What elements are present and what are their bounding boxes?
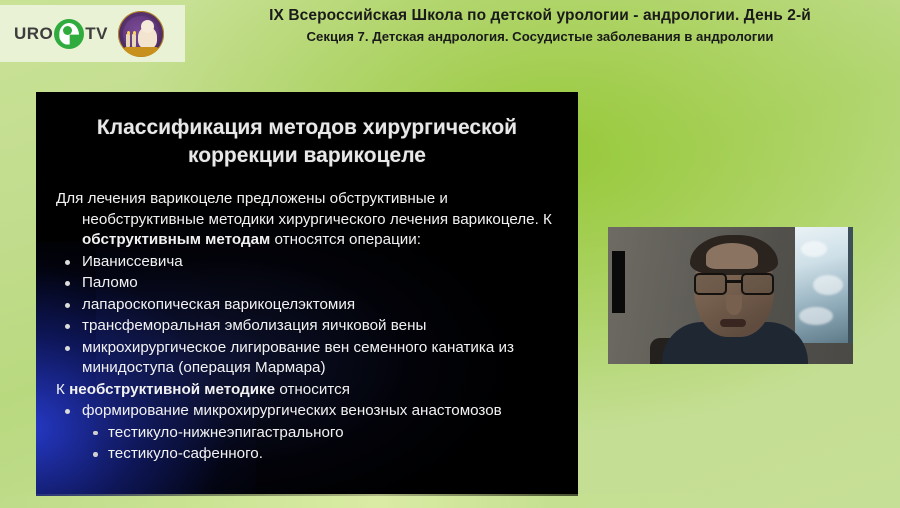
nonobstructive-methods-list: формирование микрохирургических венозных… [56, 401, 560, 422]
logo-panel: URO TV [0, 5, 185, 62]
slide-panel: Классификация методов хирургической корр… [36, 92, 578, 496]
presenter-webcam-tile[interactable] [608, 227, 853, 364]
uro-tv-logo-text-right: TV [85, 24, 108, 44]
slide-intro-bold: обструктивным методам [82, 231, 270, 248]
nonobstructive-heading-bold: необструктивной методике [69, 381, 275, 398]
slide-intro-part2: относятся операции: [270, 231, 421, 248]
list-item: Иваниссевича [56, 252, 560, 273]
header-titles: IX Всероссийская Школа по детской уролог… [190, 6, 890, 45]
header-banner: URO TV IX Всероссийская Школа [0, 0, 900, 92]
presentation-screen: URO TV IX Всероссийская Школа [0, 0, 900, 508]
list-item: микрохирургическое лигирование вен семен… [56, 338, 560, 379]
event-title: IX Всероссийская Школа по детской уролог… [190, 6, 890, 25]
list-item: тестикуло-сафенного. [86, 444, 560, 465]
uro-tv-logo-mark-icon [54, 19, 84, 49]
presenter-figure [678, 235, 788, 364]
webcam-background-wall-object [612, 251, 625, 313]
bottom-glow-decoration [0, 494, 900, 508]
list-item: тестикуло-нижнеэпигастрального [86, 423, 560, 444]
nonobstructive-sublist: тестикуло-нижнеэпигастрального тестикуло… [56, 423, 560, 465]
slide-intro-part1: Для лечения варикоцеле предложены обстру… [56, 190, 552, 228]
slide-body: Для лечения варикоцеле предложены обстру… [56, 189, 560, 465]
presenter-glasses-icon [694, 273, 774, 297]
uro-tv-logo: URO TV [14, 19, 108, 49]
nonobstructive-heading: К необструктивной методике относится [56, 380, 560, 401]
webcam-background-window [795, 227, 853, 343]
list-item: формирование микрохирургических венозных… [56, 401, 560, 422]
list-item: лапароскопическая варикоцелэктомия [56, 295, 560, 316]
nonobstructive-heading-prefix: К [56, 381, 69, 398]
slide-title: Классификация методов хирургической корр… [62, 114, 552, 170]
slide-intro-paragraph: Для лечения варикоцеле предложены обстру… [56, 189, 560, 251]
list-item: трансфеморальная эмболизация яичковой ве… [56, 316, 560, 337]
list-item: Паломо [56, 273, 560, 294]
nonobstructive-heading-suffix: относится [275, 381, 350, 398]
section-title: Секция 7. Детская андрология. Сосудистые… [190, 28, 890, 45]
obstructive-methods-list: Иваниссевича Паломо лапароскопическая ва… [56, 252, 560, 379]
uro-tv-logo-text-left: URO [14, 24, 53, 44]
pediatric-urology-school-emblem-icon [118, 11, 164, 57]
